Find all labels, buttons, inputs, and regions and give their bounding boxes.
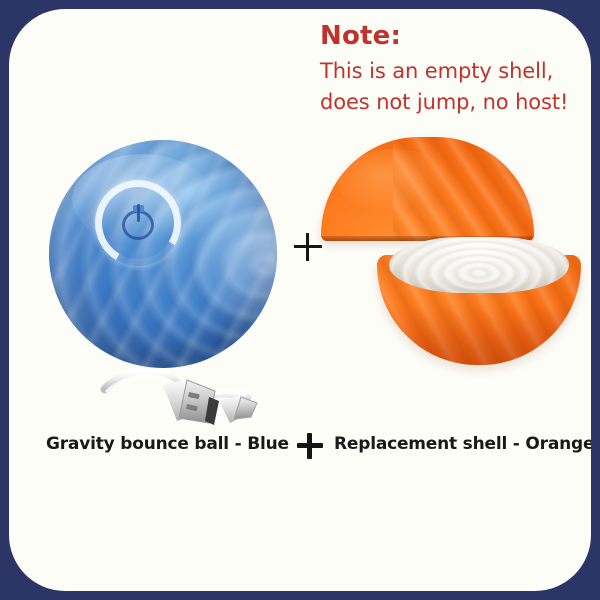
shell-top-dome <box>321 137 534 241</box>
shell-bottom-shadow <box>377 305 581 366</box>
caption-right: Replacement shell - Orange <box>334 434 591 454</box>
note-block: Note: This is an empty shell, does not j… <box>320 21 590 118</box>
shell-bottom-bowl <box>377 237 581 365</box>
caption-left: Gravity bounce ball - Blue <box>46 434 289 454</box>
usb-cable-svg <box>91 361 271 437</box>
power-symbol <box>120 205 156 241</box>
shell-liner-rings <box>389 237 569 293</box>
shell-inner-liner <box>389 237 569 293</box>
plus-separator-middle <box>292 231 324 263</box>
power-button-icon <box>95 180 181 266</box>
note-line-1: This is an empty shell, <box>320 56 590 87</box>
note-line-2: does not jump, no host! <box>320 87 590 118</box>
plus-vertical-bar <box>306 233 309 261</box>
plus-caption-vertical-bar <box>307 433 312 459</box>
product-image-card: Note: This is an empty shell, does not j… <box>9 9 591 591</box>
power-symbol-bar <box>137 204 140 222</box>
ball-edge-highlight <box>181 158 277 354</box>
note-title: Note: <box>320 21 590 52</box>
gravity-ball-image <box>49 140 277 368</box>
usb-cable-icon <box>91 361 271 437</box>
plus-separator-caption <box>297 433 323 459</box>
shell-top-highlight <box>338 149 449 213</box>
